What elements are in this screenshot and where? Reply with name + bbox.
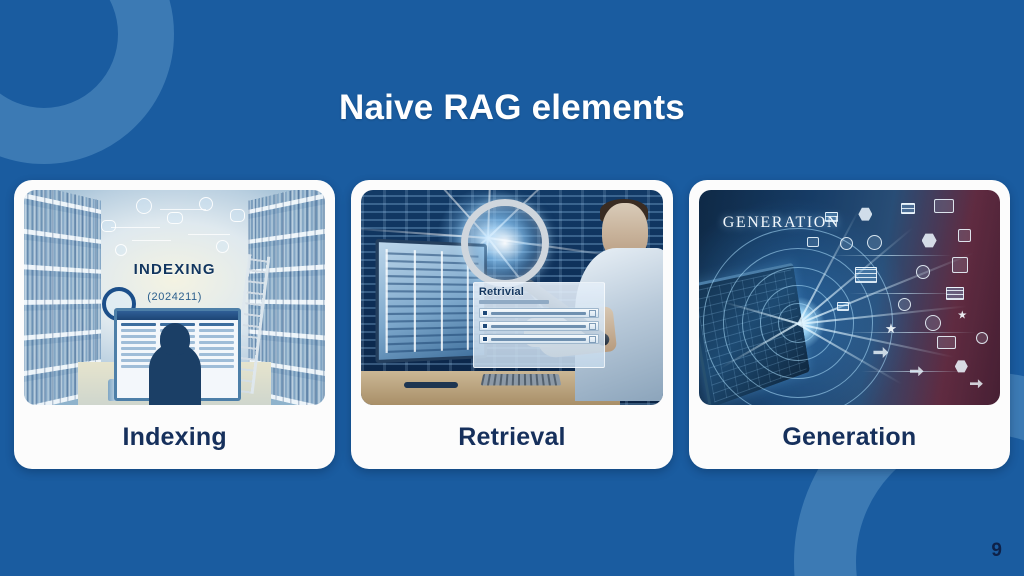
keyboard <box>481 374 562 386</box>
person-silhouette <box>149 343 201 405</box>
generation-overlay-title: GENERATION <box>723 214 840 232</box>
monitor-column <box>199 323 234 395</box>
network-link <box>111 227 160 228</box>
light-streak <box>843 332 976 333</box>
monitor-table-columns <box>386 249 479 353</box>
network-chip-icon <box>216 240 229 253</box>
hexagon-icon <box>858 207 872 221</box>
checkbox-icon <box>482 336 488 342</box>
light-streak <box>849 293 957 294</box>
checkbox-icon <box>482 310 488 316</box>
network-link <box>132 240 170 241</box>
image-icon <box>958 229 971 242</box>
retrieval-panel-title: Retrivial <box>479 286 600 298</box>
card-retrieval[interactable]: Retrivial <box>351 180 672 469</box>
indexing-overlay-subtitle: (2024211) <box>24 291 325 303</box>
page-number: 9 <box>991 540 1002 562</box>
indexing-overlay-title: INDEXING <box>24 261 325 278</box>
refresh-icon <box>916 265 930 279</box>
spreadsheet-icon <box>934 199 954 213</box>
page-title: Naive RAG elements <box>0 88 1024 128</box>
rag-element-card-row: INDEXING (2024211) <box>14 180 1010 469</box>
monitor-stand <box>404 382 458 388</box>
row-status-icon <box>589 310 596 317</box>
clock-icon <box>898 298 911 311</box>
chart-icon <box>901 203 915 214</box>
document-icon <box>837 302 849 311</box>
retrieval-panel-subtitle <box>479 300 549 304</box>
target-icon <box>925 315 941 331</box>
retrieval-result-rows <box>479 308 600 344</box>
arrow-icon <box>970 379 983 388</box>
retrieval-results-panel: Retrivial <box>473 282 606 368</box>
gear-icon <box>976 332 988 344</box>
light-streak <box>861 371 963 372</box>
slide-canvas: Naive RAG elements <box>0 0 1024 576</box>
network-link <box>188 234 230 235</box>
image-icon <box>807 237 819 247</box>
generation-figure-image: GENERATION <box>699 190 1000 405</box>
checkbox-icon <box>482 323 488 329</box>
at-symbol-icon <box>867 235 882 250</box>
row-text <box>491 338 587 341</box>
card-generation[interactable]: GENERATION Generation <box>689 180 1010 469</box>
retrieval-result-row <box>479 334 600 344</box>
hexagon-icon <box>922 233 937 248</box>
network-folder-icon <box>167 212 183 224</box>
floating-network-icons <box>90 194 265 263</box>
network-link <box>160 209 205 210</box>
card-icon <box>937 336 956 349</box>
row-status-icon <box>589 323 596 330</box>
network-book-icon <box>230 209 245 222</box>
retrieval-result-row <box>479 321 600 331</box>
star-icon <box>958 310 967 319</box>
card-label-generation: Generation <box>699 405 1000 469</box>
diagram-icon <box>952 257 968 273</box>
monitor-title-bar <box>117 311 238 320</box>
decorative-ring-top-left <box>0 0 174 164</box>
at-symbol-icon <box>840 237 853 250</box>
table-icon <box>855 267 877 283</box>
card-label-indexing: Indexing <box>24 405 325 469</box>
retrieval-result-row <box>479 308 600 318</box>
retrieval-figure-image: Retrivial <box>361 190 662 405</box>
card-indexing[interactable]: INDEXING (2024211) <box>14 180 335 469</box>
magnifying-glass-icon <box>461 199 549 287</box>
row-text <box>491 325 587 328</box>
row-text <box>491 312 587 315</box>
row-status-icon <box>589 336 596 343</box>
card-label-retrieval: Retrieval <box>361 405 662 469</box>
light-streak <box>831 255 952 256</box>
arrow-icon <box>873 347 888 358</box>
network-tag-icon <box>115 244 127 256</box>
indexing-figure-image: INDEXING (2024211) <box>24 190 325 405</box>
network-node-icon <box>136 198 152 214</box>
